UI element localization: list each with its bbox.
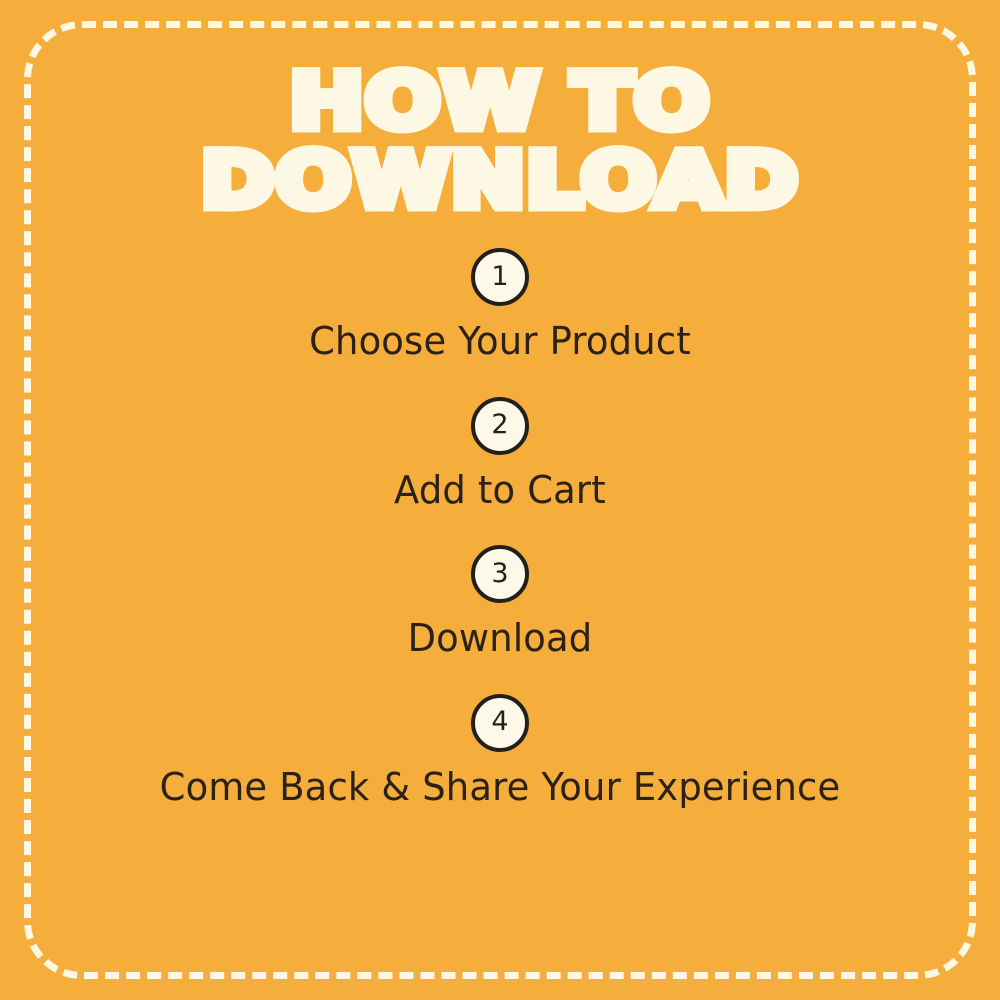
page-title-line-1: HOW TO (0, 71, 1000, 135)
step-number-badge-2: 2 (471, 397, 529, 455)
step-number-badge-3: 3 (471, 545, 529, 603)
step-number-2: 2 (491, 411, 508, 438)
step-label-1: Choose Your Product (15, 320, 985, 363)
list-item: 4 Come Back & Share Your Experience (0, 694, 1000, 809)
list-item: 1 Choose Your Product (0, 248, 1000, 363)
list-item: 2 Add to Cart (0, 397, 1000, 512)
step-label-2: Add to Cart (15, 469, 985, 512)
how-to-download-poster: HOW TO DOWNLOAD 1 Choose Your Product 2 … (0, 0, 1000, 1000)
step-label-4: Come Back & Share Your Experience (15, 766, 985, 809)
step-number-4: 4 (491, 708, 508, 735)
step-number-badge-1: 1 (471, 248, 529, 306)
page-title: HOW TO DOWNLOAD (0, 74, 1000, 210)
page-title-line-2: DOWNLOAD (0, 150, 1000, 214)
steps-list: 1 Choose Your Product 2 Add to Cart 3 Do… (0, 248, 1000, 808)
step-number-badge-4: 4 (471, 694, 529, 752)
list-item: 3 Download (0, 545, 1000, 660)
step-number-1: 1 (491, 263, 508, 290)
step-number-3: 3 (491, 560, 508, 587)
step-label-3: Download (15, 617, 985, 660)
